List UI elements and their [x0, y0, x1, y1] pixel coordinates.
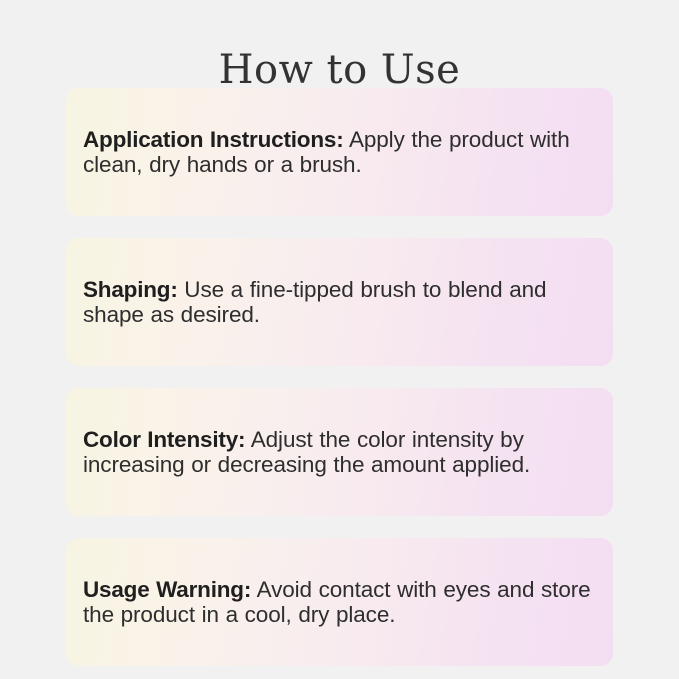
instruction-card-text: Usage Warning: Avoid contact with eyes a…: [83, 577, 593, 628]
instruction-card-application-instructions: Application Instructions: Apply the prod…: [66, 88, 613, 216]
instruction-card-shaping: Shaping: Use a fine-tipped brush to blen…: [66, 238, 613, 366]
instruction-card-label: Usage Warning:: [83, 577, 251, 602]
instruction-card-label: Color Intensity:: [83, 427, 245, 452]
instruction-card-label: Application Instructions:: [83, 127, 344, 152]
instruction-card-text: Application Instructions: Apply the prod…: [83, 127, 593, 178]
instruction-card-label: Shaping:: [83, 277, 178, 302]
instruction-card-color-intensity: Color Intensity: Adjust the color intens…: [66, 388, 613, 516]
how-to-use-poster: How to Use Application Instructions: App…: [0, 0, 679, 679]
instruction-card-usage-warning: Usage Warning: Avoid contact with eyes a…: [66, 538, 613, 666]
instruction-card-text: Color Intensity: Adjust the color intens…: [83, 427, 593, 478]
instruction-card-text: Shaping: Use a fine-tipped brush to blen…: [83, 277, 593, 328]
instruction-card-list: Application Instructions: Apply the prod…: [66, 88, 613, 666]
